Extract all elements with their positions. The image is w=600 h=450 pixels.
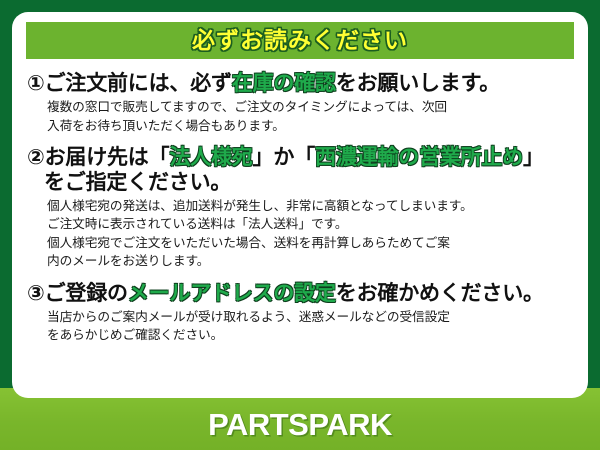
notice-item-3-body-line-2: をあらかじめご確認ください。 (47, 326, 573, 344)
notice-item-1-number: ① (27, 72, 45, 95)
notice-banner: 必ずお読みください ①ご注文前には、必ず在庫の確認をお願いします。 複数の窓口で… (0, 0, 600, 450)
notice-item-2-body-line-4: 内のメールをお送りします。 (47, 252, 573, 270)
notice-item-3-heading: ③ご登録のメールアドレスの設定をお確かめください。 (27, 282, 573, 306)
notice-item-3-heading-pre: ご登録の (45, 282, 128, 305)
notice-item-1-body-line-1: 複数の窓口で販売してますので、ご注文のタイミングによっては、次回 (47, 98, 573, 116)
notice-item-3-body-line-1: 当店からのご案内メールが受け取れるよう、迷惑メールなどの受信設定 (47, 308, 573, 326)
notice-item-2-number: ② (27, 146, 45, 169)
notice-header-bar: 必ずお読みください (26, 22, 574, 59)
notice-panel: 必ずお読みください ①ご注文前には、必ず在庫の確認をお願いします。 複数の窓口で… (12, 12, 588, 398)
notice-item-3-heading-post: をお確かめください。 (336, 282, 544, 305)
notice-item-2-body-line-3: 個人様宅宛でご注文をいただいた場合、送料を再計算しあらためてご案 (47, 234, 573, 252)
notice-item-3-number: ③ (27, 282, 45, 305)
notice-item-1-body: 複数の窓口で販売してますので、ご注文のタイミングによっては、次回 入荷をお待ち頂… (27, 98, 573, 135)
notice-item-1-body-line-2: 入荷をお待ち頂いただく場合もあります。 (47, 117, 573, 135)
notice-item-3: ③ご登録のメールアドレスの設定をお確かめください。 当店からのご案内メールが受け… (27, 282, 573, 345)
notice-item-2-heading-highlight: 法人様宛 (169, 146, 252, 169)
notice-item-2-body: 個人様宅宛の発送は、追加送料が発生し、非常に高額となってしまいます。 ご注文時に… (27, 197, 573, 271)
notice-item-2-body-line-2: ご注文時に表示されている送料は「法人送料」です。 (47, 215, 573, 233)
notice-item-1-heading-pre: ご注文前には、必ず (45, 72, 232, 95)
notice-item-1: ①ご注文前には、必ず在庫の確認をお願いします。 複数の窓口で販売してますので、ご… (27, 72, 573, 135)
notice-item-2-heading-mid: 」か「 (253, 146, 315, 169)
notice-item-2-heading: ②お届け先は「法人様宛」か「西濃運輸の営業所止め」をご指定ください。 (27, 146, 573, 195)
notice-item-1-heading: ①ご注文前には、必ず在庫の確認をお願いします。 (27, 72, 573, 96)
notice-item-1-heading-highlight: 在庫の確認 (232, 72, 336, 95)
notice-item-1-heading-post: をお願いします。 (336, 72, 500, 95)
notice-item-2: ②お届け先は「法人様宛」か「西濃運輸の営業所止め」をご指定ください。 個人様宅宛… (27, 146, 573, 270)
notice-title: 必ずお読みください (192, 29, 408, 52)
notice-item-3-heading-highlight: メールアドレスの設定 (128, 282, 336, 305)
notice-item-3-body: 当店からのご案内メールが受け取れるよう、迷惑メールなどの受信設定 をあらかじめご… (27, 308, 573, 345)
notice-item-2-body-line-1: 個人様宅宛の発送は、追加送料が発生し、非常に高額となってしまいます。 (47, 197, 573, 215)
notice-item-2-heading-pre: お届け先は「 (45, 146, 170, 169)
notice-item-2-heading-post: 」 (523, 146, 544, 169)
notice-item-2-heading-highlight-2: 西濃運輸の営業所止め (315, 146, 523, 169)
notice-item-2-heading-line-2: をご指定ください。 (27, 171, 573, 195)
notice-items-list: ①ご注文前には、必ず在庫の確認をお願いします。 複数の窓口で販売してますので、ご… (26, 72, 574, 345)
brand-name: PARTSPARK (208, 409, 392, 440)
footer-logo: PARTSPARK (0, 398, 600, 450)
